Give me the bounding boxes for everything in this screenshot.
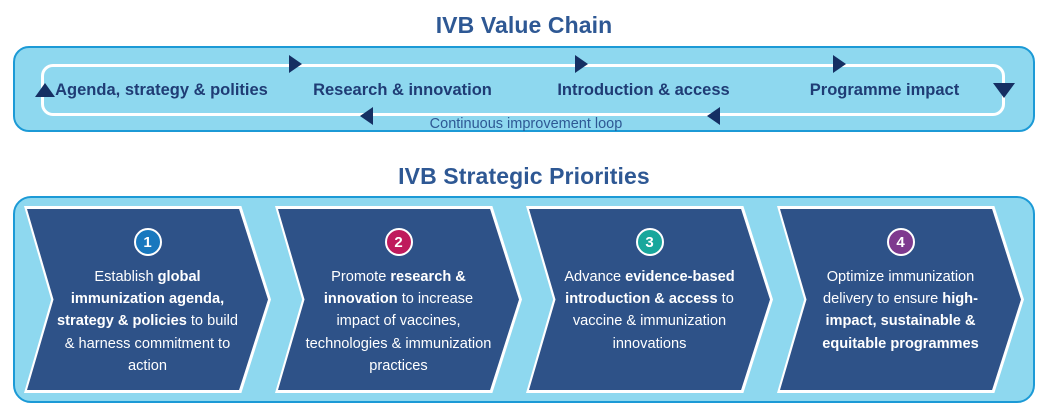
triangle-right-icon xyxy=(289,55,302,73)
priority-text-1: Establish global immunization agenda, st… xyxy=(53,266,243,377)
value-chain-stage-4[interactable]: Programme impact xyxy=(764,81,1005,100)
priority-text-2: Promote research & innovation to increas… xyxy=(304,266,494,377)
priority-card-1[interactable]: 1 Establish global immunization agenda, … xyxy=(24,206,271,393)
priority-badge-2: 2 xyxy=(385,228,413,256)
value-chain-stage-row: Agenda, strategy & polities Research & i… xyxy=(41,64,1005,116)
continuous-improvement-loop-caption: Continuous improvement loop xyxy=(15,116,1037,132)
priority-chevron-row: 1 Establish global immunization agenda, … xyxy=(24,206,1024,393)
value-chain-stage-3[interactable]: Introduction & access xyxy=(523,81,764,100)
priority-text-4: Optimize immunization delivery to ensure… xyxy=(806,266,996,355)
priority-badge-3: 3 xyxy=(636,228,664,256)
priority-card-3[interactable]: 3 Advance evidence-based introduction & … xyxy=(526,206,773,393)
triangle-right-icon xyxy=(833,55,846,73)
value-chain-band: Agenda, strategy & polities Research & i… xyxy=(13,46,1035,132)
value-chain-stage-2[interactable]: Research & innovation xyxy=(282,81,523,100)
priority-badge-1: 1 xyxy=(134,228,162,256)
strategic-priorities-title: IVB Strategic Priorities xyxy=(0,163,1048,190)
value-chain-stage-1[interactable]: Agenda, strategy & polities xyxy=(41,81,282,100)
priority-card-4[interactable]: 4 Optimize immunization delivery to ensu… xyxy=(777,206,1024,393)
triangle-down-icon xyxy=(993,83,1015,98)
strategic-priorities-band: 1 Establish global immunization agenda, … xyxy=(13,196,1035,403)
triangle-right-icon xyxy=(575,55,588,73)
value-chain-title: IVB Value Chain xyxy=(0,12,1048,39)
diagram-canvas: IVB Value Chain Agenda, strategy & polit… xyxy=(0,0,1048,418)
priority-text-3: Advance evidence-based introduction & ac… xyxy=(555,266,745,355)
triangle-up-icon xyxy=(35,83,55,97)
priority-card-2[interactable]: 2 Promote research & innovation to incre… xyxy=(275,206,522,393)
priority-badge-4: 4 xyxy=(887,228,915,256)
